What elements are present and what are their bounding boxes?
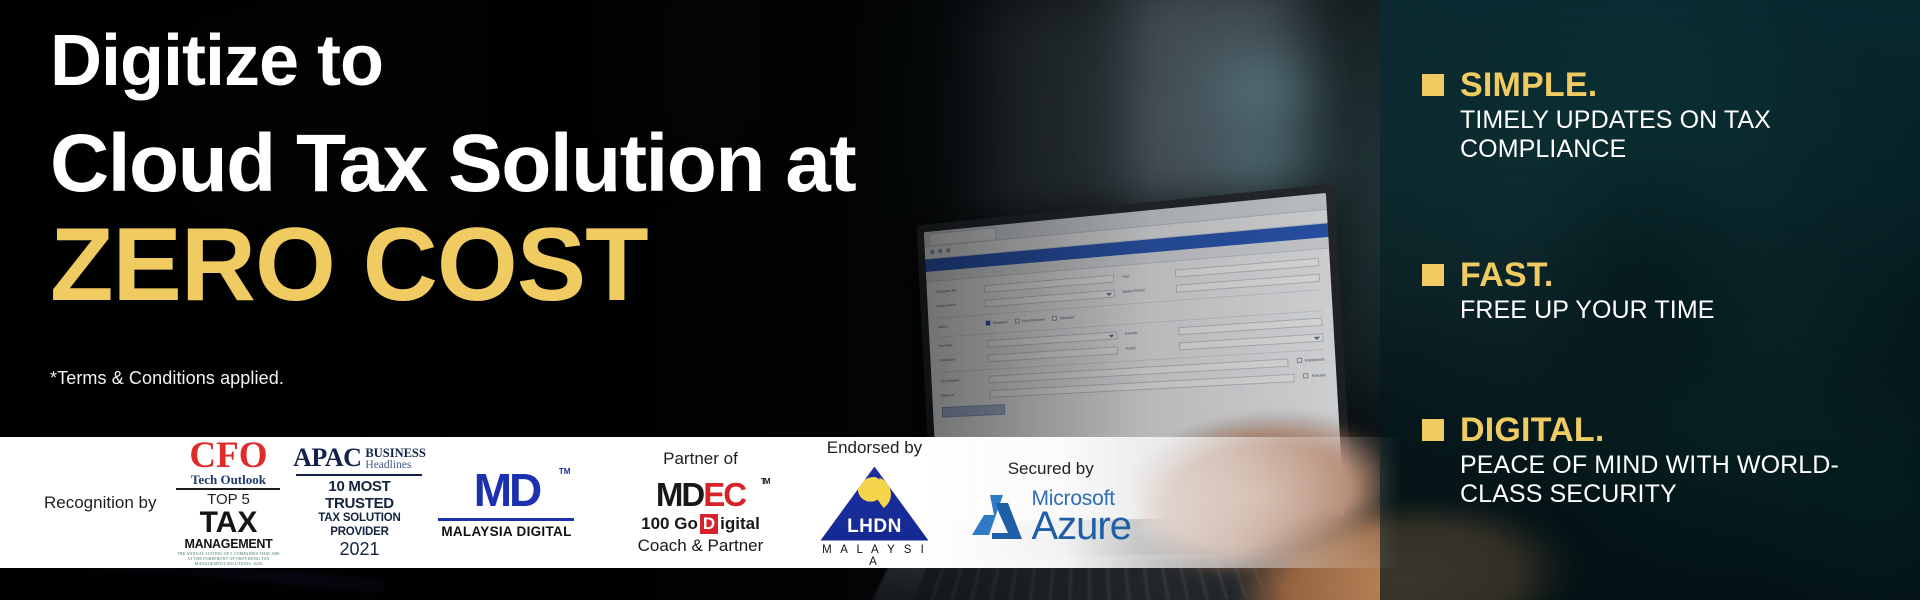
logo-malaysia-digital: MD TM MALAYSIA DIGITAL [438,467,574,539]
trademark-icon: TM [761,478,769,486]
mdec-tagline-2: Coach & Partner [630,536,770,556]
mdec-d-badge: D [700,514,718,534]
lhdn-wordmark: LHDN [820,516,928,538]
endorsed-by-group: Endorsed by LHDN M A L A Y S I A [814,438,934,568]
terms-note: *Terms & Conditions applied. [50,368,284,389]
headline-line-2: Cloud Tax Solution at [50,120,1150,209]
cfo-brand: CFO [176,439,280,473]
cfo-category: TAX [176,509,280,538]
apac-brand-row: APAC BUSINESS Headlines [296,445,422,471]
feature-simple: SIMPLE. TIMELY UPDATES ON TAX COMPLIANCE [1422,68,1892,164]
feature-header: SIMPLE. [1422,68,1892,102]
endorsed-label: Endorsed by [827,438,922,458]
cfo-subtitle: Tech Outlook [176,473,280,487]
logo-cfo-tech-outlook: CFO Tech Outlook TOP 5 TAX MANAGEMENT TH… [176,439,280,566]
apac-year: 2021 [296,539,422,560]
headline-line-1: Digitize to [50,24,1150,100]
md-letters: MD [474,464,540,516]
feature-description: FREE UP YOUR TIME [1460,296,1892,325]
md-monogram: MD TM [438,467,574,515]
apac-brand-2: BUSINESS [365,447,425,460]
divider [438,518,574,521]
md-wordmark: MALAYSIA DIGITAL [438,524,574,539]
feature-title: SIMPLE. [1460,68,1597,102]
lhdn-country: M A L A Y S I A [814,544,934,568]
mdec-wordmark: MDECTM [630,478,770,511]
square-bullet-icon [1422,419,1444,441]
apac-brand: APAC [293,445,361,471]
feature-digital: DIGITAL. PEACE OF MIND WITH WORLD-CLASS … [1422,413,1892,509]
feature-title: DIGITAL. [1460,413,1605,447]
lhdn-triangle-icon: LHDN [820,467,928,541]
secured-by-group: Secured by Microsoft Azure [970,459,1131,545]
secured-label: Secured by [1008,459,1094,479]
feature-description: TIMELY UPDATES ON TAX COMPLIANCE [1460,106,1892,164]
square-bullet-icon [1422,74,1444,96]
apac-line-2: TAX SOLUTION PROVIDER [296,512,422,538]
feature-fast: FAST. FREE UP YOUR TIME [1422,258,1892,325]
mdec-tagline-pre: 100 Go [641,514,698,534]
feature-header: FAST. [1422,258,1892,292]
mdec-tagline-post: igital [720,514,760,534]
headline-block: Digitize to Cloud Tax Solution at ZERO C… [50,24,1150,318]
azure-wordmark: Microsoft Azure [1031,488,1131,545]
partner-logo-bar: Recognition by CFO Tech Outlook TOP 5 TA… [0,437,1400,568]
divider [296,474,422,476]
mdec-mark-black: MD [656,476,703,513]
feature-title: FAST. [1460,258,1554,292]
features-panel: SIMPLE. TIMELY UPDATES ON TAX COMPLIANCE… [1380,0,1920,600]
square-bullet-icon [1422,264,1444,286]
headline-line-3: ZERO COST [50,212,1150,318]
trademark-icon: TM [559,467,571,476]
promo-banner: Company NoYear AssessmentBasis Period St… [0,0,1920,600]
divider [176,488,280,490]
logo-microsoft-azure: Microsoft Azure [970,488,1131,545]
cfo-category-2: MANAGEMENT [176,537,280,551]
recognition-label: Recognition by [44,493,156,513]
partner-of-group: Partner of MDECTM 100 Go Digital Coach &… [630,449,770,556]
mdec-tagline: 100 Go Digital [630,514,770,534]
logo-mdec: MDECTM 100 Go Digital Coach & Partner [630,478,770,556]
logo-lhdn-malaysia: LHDN M A L A Y S I A [814,467,934,568]
cfo-footnote: THE ANNUAL LISTING OF 5 COMPANIES THAT A… [176,551,280,566]
apac-brand-3: Headlines [365,459,425,471]
feature-description: PEACE OF MIND WITH WORLD-CLASS SECURITY [1460,451,1892,509]
partner-label: Partner of [663,449,738,469]
feature-header: DIGITAL. [1422,413,1892,447]
azure-logo-icon [970,493,1024,541]
apac-line-1: 10 MOST TRUSTED [296,479,422,512]
azure-name: Azure [1031,507,1131,545]
logo-apac-business-headlines: APAC BUSINESS Headlines 10 MOST TRUSTED … [296,445,422,559]
mdec-mark-red: EC [703,476,745,513]
apac-brand-stack: BUSINESS Headlines [365,447,425,472]
